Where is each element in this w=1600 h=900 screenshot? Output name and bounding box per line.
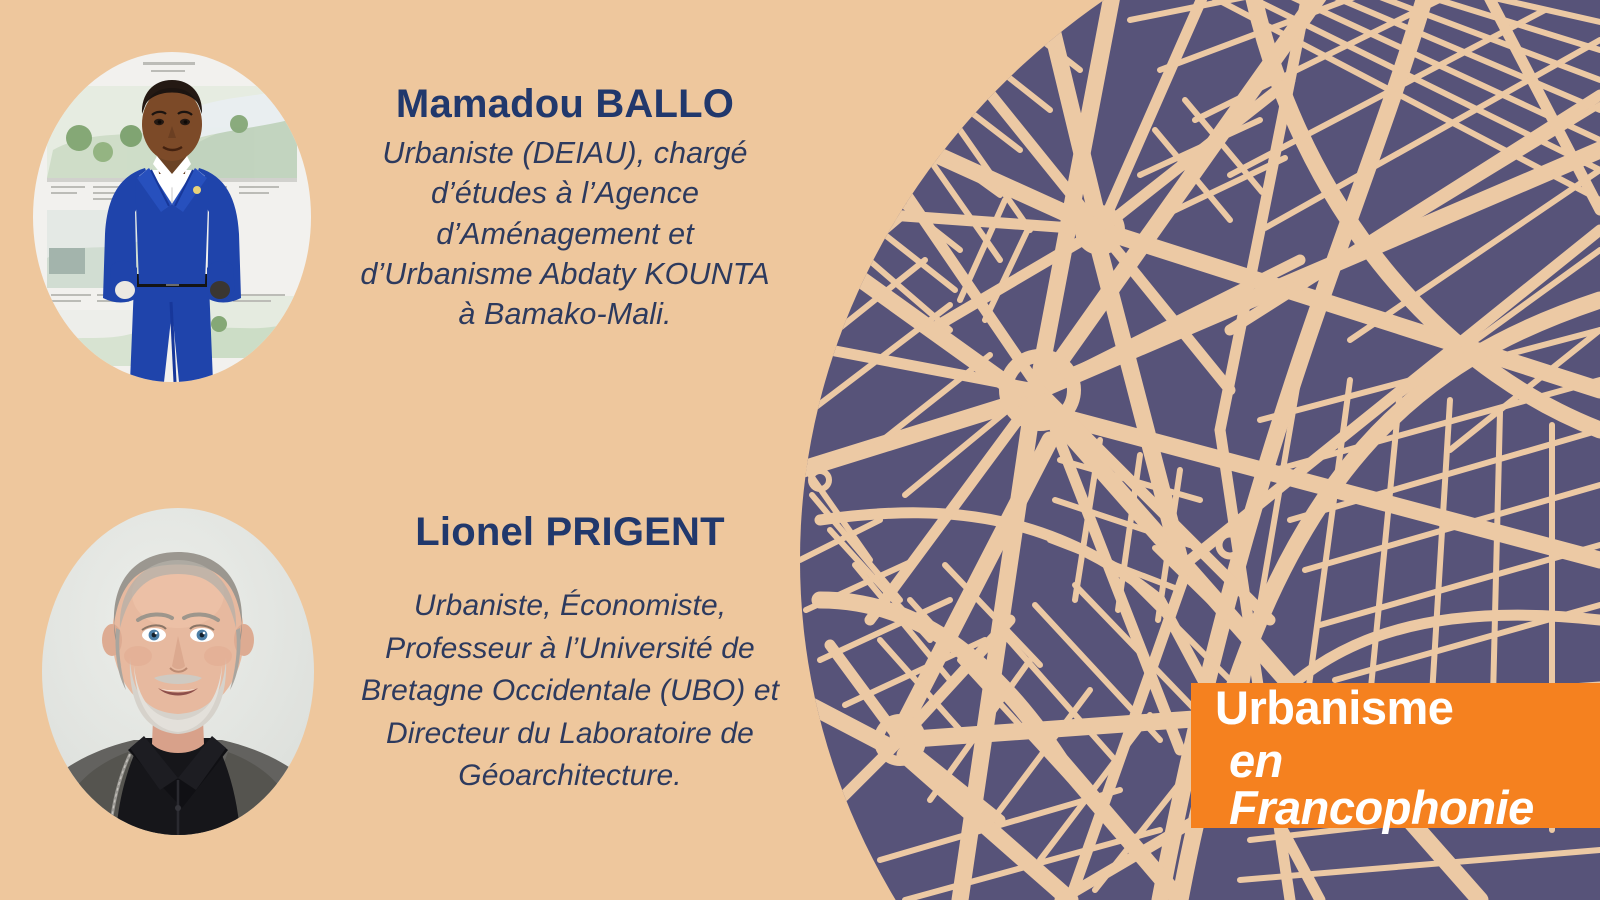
profile-role-0: Urbaniste (DEIAU), chargé d’études à l’A… (325, 133, 805, 334)
profile-card-1: Lionel PRIGENT Urbaniste, Économiste, Pr… (0, 450, 810, 900)
profile-name-0: Mamadou BALLO (325, 82, 805, 127)
role-line: Urbaniste (DEIAU), chargé (325, 133, 805, 173)
role-line: à Bamako-Mali. (325, 294, 805, 334)
role-line: Urbaniste, Économiste, (325, 585, 815, 628)
role-line: d’Urbanisme Abdaty KOUNTA (325, 254, 805, 294)
logo-line-2: en Francophonie (1215, 737, 1580, 831)
avatar-mamadou-ballo (33, 52, 311, 382)
avatar-lionel-prigent (42, 508, 314, 835)
portrait-illustration-0 (33, 52, 311, 382)
profile-text-0: Mamadou BALLO Urbaniste (DEIAU), chargé … (325, 82, 805, 334)
role-line: Géoarchitecture. (325, 755, 815, 798)
profile-text-1: Lionel PRIGENT Urbaniste, Économiste, Pr… (325, 510, 815, 798)
profile-card-0: Mamadou BALLO Urbaniste (DEIAU), chargé … (0, 0, 810, 450)
role-line: Professeur à l’Université de (325, 628, 815, 671)
portrait-illustration-1 (42, 508, 314, 835)
role-line: d’études à l’Agence (325, 173, 805, 213)
role-line: Directeur du Laboratoire de (325, 713, 815, 756)
logo-line-1: Urbanisme (1215, 684, 1580, 731)
profile-role-1: Urbaniste, Économiste, Professeur à l’Un… (325, 585, 815, 798)
profile-name-1: Lionel PRIGENT (325, 510, 815, 555)
role-line: Bretagne Occidentale (UBO) et (325, 670, 815, 713)
logo-urbanisme-en-francophonie: Urbanisme en Francophonie (1191, 683, 1600, 828)
role-line: d’Aménagement et (325, 214, 805, 254)
